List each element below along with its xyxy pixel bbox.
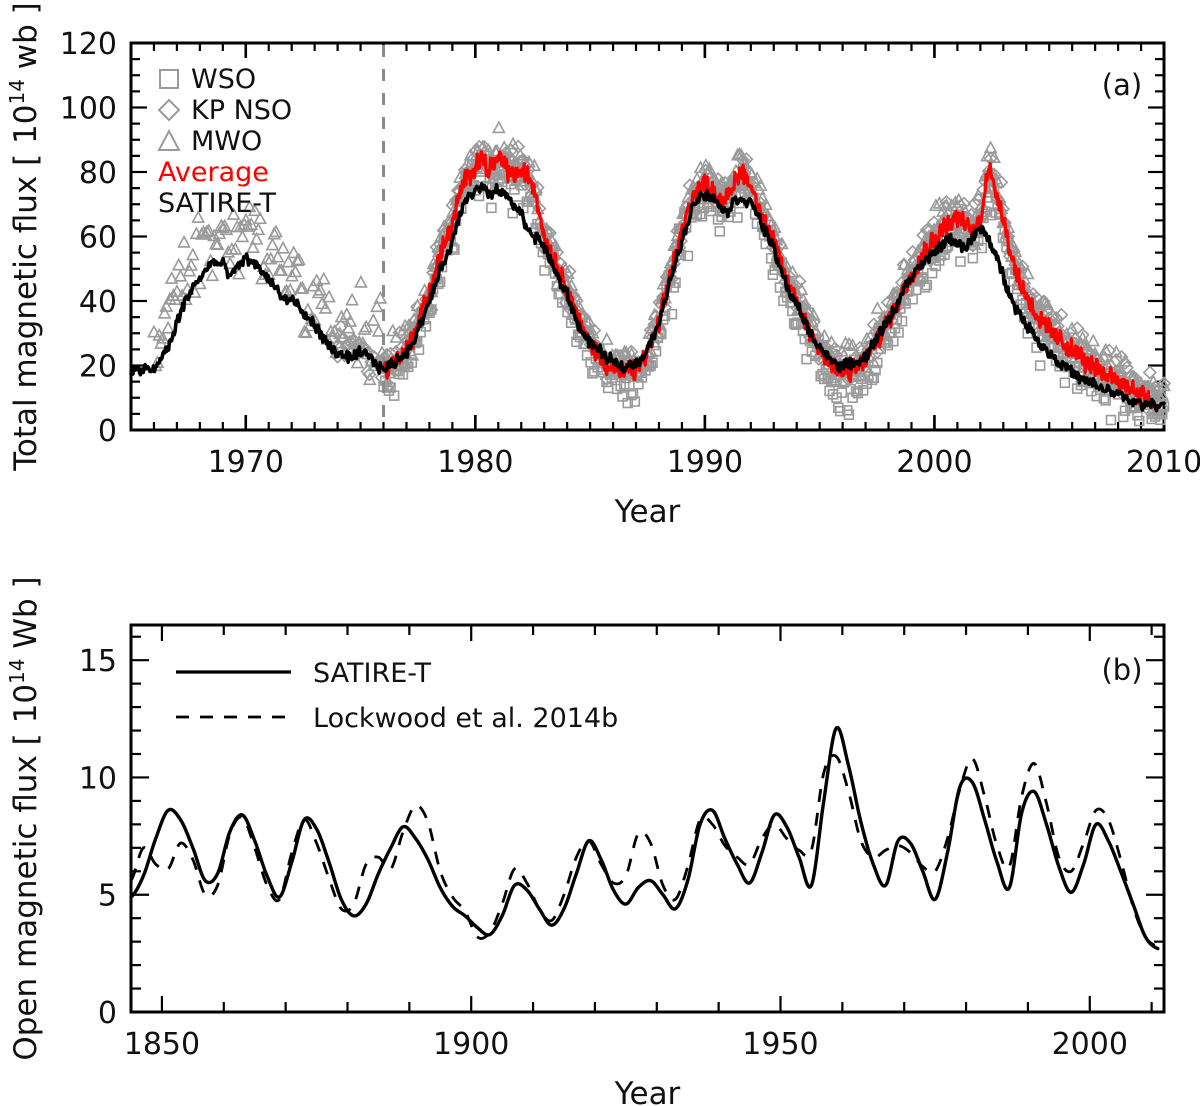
panel-b-xticklabel: 1900 — [433, 1027, 509, 1062]
scatter-point-wso — [1036, 361, 1045, 370]
scatter-point-mwo — [493, 122, 504, 132]
panel-b-frame — [131, 625, 1164, 1012]
panel-b-xticklabel: 1850 — [124, 1027, 200, 1062]
panel-a-yticklabel: 0 — [98, 414, 117, 449]
panel-a-xticklabel: 1990 — [667, 445, 743, 480]
figure-svg: 19701980199020002010020406080100120WSOKP… — [0, 0, 1200, 1106]
scatter-point-mwo — [179, 237, 190, 247]
panel-a-yticklabel: 120 — [60, 27, 117, 62]
panel-a-legend-label-kp-nso: KP NSO — [191, 95, 292, 126]
scatter-point-mwo — [355, 277, 366, 287]
panel-b-xticklabel: 1950 — [742, 1027, 818, 1062]
scatter-point-mwo — [601, 334, 612, 344]
panel-b-legend-label-lockwood-et-al--2014b: Lockwood et al. 2014b — [313, 703, 618, 734]
panel-a-xticklabel: 2010 — [1126, 445, 1200, 480]
scatter-point-wso — [829, 390, 838, 399]
scatter-point-mwo — [163, 322, 174, 332]
scatter-point-mwo — [368, 315, 379, 325]
panel-a-label: (a) — [1102, 68, 1142, 102]
panel-b-yticklabel: 5 — [98, 879, 117, 914]
panel-a-legend-label-wso: WSO — [191, 64, 256, 95]
panel-a: 19701980199020002010020406080100120WSOKP… — [5, 2, 1200, 530]
scatter-point-wso — [956, 257, 965, 266]
panel-b-series-lockwood — [131, 755, 1158, 946]
scatter-point-mwo — [173, 259, 184, 269]
scatter-point-mwo — [391, 332, 402, 342]
scatter-point-mwo — [159, 308, 170, 318]
panel-a-yticklabel: 80 — [79, 156, 117, 191]
panel-b-xaxis-title: Year — [614, 1076, 681, 1106]
scatter-point-mwo — [267, 239, 278, 249]
panel-a-legend-label-mwo: MWO — [191, 126, 262, 157]
scatter-point-mwo — [251, 234, 262, 244]
scatter-point-wso — [487, 203, 496, 212]
scatter-point-mwo — [872, 303, 883, 313]
panel-a-legend-label-average: Average — [158, 157, 269, 188]
panel-a-yticklabel: 100 — [60, 92, 117, 127]
panel-b-yaxis-title: Open magnetic flux [ 1014 Wb ] — [5, 576, 44, 1060]
panel-b-yticklabel: 0 — [98, 996, 117, 1031]
scatter-point-wso — [968, 254, 977, 263]
scatter-point-mwo — [237, 231, 248, 241]
panel-b-xticklabel: 2000 — [1052, 1027, 1128, 1062]
panel-a-legend-label-satire-t: SATIRE-T — [158, 188, 277, 219]
panel-a-series-satire-t — [131, 184, 1164, 411]
panel-a-yticklabel: 60 — [79, 221, 117, 256]
panel-b-legend-label-satire-t: SATIRE-T — [313, 658, 432, 689]
panel-a-yaxis-title: Total magnetic flux [ 1014 wb ] — [5, 2, 44, 472]
panel-a-xticklabel: 2000 — [896, 445, 972, 480]
panel-a-xaxis-title: Year — [614, 494, 681, 530]
panel-a-xticklabel: 1970 — [208, 445, 284, 480]
legend-symbol-square — [160, 70, 178, 88]
scatter-point-mwo — [301, 327, 312, 337]
scatter-point-wso — [1107, 416, 1116, 425]
scatter-point-wso — [715, 227, 724, 236]
scatter-point-wso — [1060, 378, 1069, 387]
scatter-point-mwo — [318, 273, 329, 283]
panel-b-label: (b) — [1101, 653, 1142, 687]
panel-a-yticklabel: 40 — [79, 285, 117, 320]
panel-b: 1850190019502000051015SATIRE-TLockwood e… — [5, 576, 1164, 1106]
panel-a-yticklabel: 20 — [79, 350, 117, 385]
panel-b-yticklabel: 15 — [79, 644, 117, 679]
legend-symbol-diamond — [159, 100, 179, 120]
panel-b-yticklabel: 10 — [79, 761, 117, 796]
scatter-point-mwo — [278, 242, 289, 252]
scatter-point-mwo — [187, 249, 198, 259]
scatter-point-mwo — [1088, 335, 1099, 345]
panel-a-xticklabel: 1980 — [437, 445, 513, 480]
figure-container: 19701980199020002010020406080100120WSOKP… — [0, 0, 1200, 1106]
scatter-point-mwo — [347, 294, 358, 304]
scatter-point-mwo — [207, 270, 218, 280]
legend-symbol-triangle — [159, 131, 179, 150]
panel-b-series-satire-t — [131, 728, 1158, 949]
